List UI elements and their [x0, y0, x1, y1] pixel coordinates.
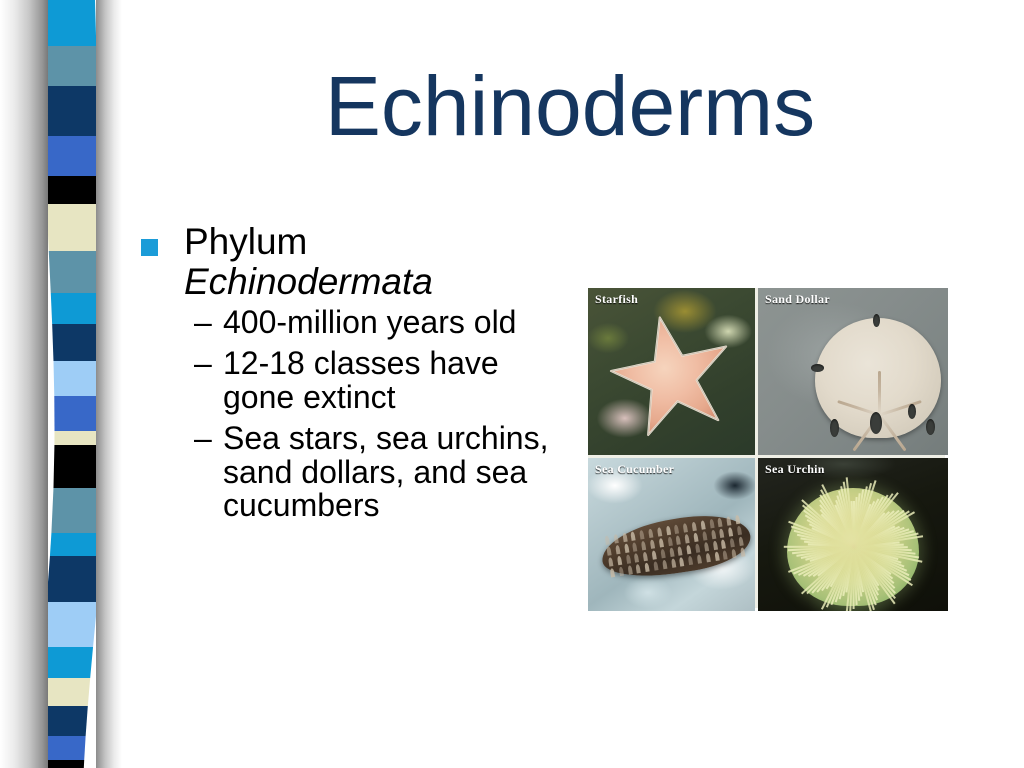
cucumber-spike	[692, 522, 697, 532]
cucumber-spike	[728, 527, 733, 537]
cucumber-spike	[631, 531, 636, 541]
en-dash-bullet-icon: –	[194, 347, 212, 381]
cucumber-spike	[721, 539, 726, 549]
cucumber-spike	[626, 555, 631, 565]
cucumber-spike	[688, 556, 693, 566]
cucumber-spike	[654, 561, 659, 571]
cucumber-spike	[720, 529, 725, 539]
cucumber-spike	[687, 545, 692, 555]
cucumber-spike	[645, 563, 650, 573]
cucumber-spike	[706, 553, 711, 563]
cucumber-spike	[624, 544, 629, 554]
sea-urchin-photo-caption: Sea Urchin	[765, 462, 825, 477]
sub-bullet-list: – 400-million years old – 12-18 classes …	[136, 306, 566, 523]
left-decorative-stripe	[0, 0, 120, 768]
bullet-level1-italic-text: Echinodermata	[184, 261, 433, 302]
slide-title: Echinoderms	[150, 62, 990, 150]
sub-bullet-text: 12-18 classes have gone extinct	[223, 345, 499, 415]
cucumber-spike	[643, 552, 648, 562]
cucumber-spike	[711, 530, 716, 540]
sea-urchin-illustration	[787, 488, 919, 606]
cucumber-spike	[605, 536, 610, 546]
cucumber-spike	[671, 559, 676, 569]
cucumber-spike	[641, 541, 646, 551]
list-item: – Sea stars, sea urchins, sand dollars, …	[194, 422, 566, 524]
cucumber-spike	[740, 548, 745, 558]
cucumber-spike	[648, 529, 653, 539]
cucumber-spike	[730, 538, 735, 548]
cucumber-spike	[619, 567, 624, 577]
cucumber-spike	[622, 533, 627, 543]
cucumber-spike	[713, 541, 718, 551]
list-item: – 12-18 classes have gone extinct	[194, 347, 566, 415]
cucumber-spike	[685, 534, 690, 544]
slide-body: Phylum Echinodermata – 400-million years…	[136, 222, 566, 530]
cucumber-spike	[610, 568, 615, 578]
sub-bullet-text: 400-million years old	[223, 304, 516, 340]
sea-cucumber-photo: Sea Cucumber	[588, 458, 755, 611]
cucumber-spike	[732, 549, 737, 559]
cucumber-spike	[701, 520, 706, 530]
cucumber-spike	[694, 533, 699, 543]
cucumber-spike	[627, 565, 632, 575]
starfish-photo-caption: Starfish	[595, 292, 638, 307]
cucumber-spike	[661, 549, 666, 559]
cucumber-spike	[727, 516, 732, 526]
cucumber-spike	[680, 557, 685, 567]
cucumber-spike	[615, 545, 620, 555]
en-dash-bullet-icon: –	[194, 306, 212, 340]
cucumber-spike	[667, 537, 672, 547]
cucumber-spike	[617, 556, 622, 566]
cucumber-spike	[723, 550, 728, 560]
cucumber-spike	[702, 531, 707, 541]
cucumber-spike	[676, 535, 681, 545]
cucumber-spike	[662, 560, 667, 570]
cucumber-spike	[659, 538, 664, 548]
cucumber-spike	[607, 546, 612, 556]
cucumber-spike	[614, 534, 619, 544]
cucumber-spike	[666, 526, 671, 536]
cucumber-spike	[633, 542, 638, 552]
square-bullet-icon	[141, 239, 158, 256]
sand-dollar-photo: Sand Dollar	[758, 288, 948, 455]
cucumber-spike	[709, 519, 714, 529]
bullet-level1-text: Phylum	[184, 221, 307, 262]
sand-dollar-photo-caption: Sand Dollar	[765, 292, 830, 307]
cucumber-spike	[737, 526, 742, 536]
starfish-illustration	[596, 299, 748, 451]
cucumber-spike	[704, 542, 709, 552]
cucumber-spike	[718, 518, 723, 528]
sub-bullet-text: Sea stars, sea urchins, sand dollars, an…	[223, 420, 548, 524]
echinoderm-picture-grid: Starfish Sand Dollar	[588, 288, 945, 608]
cucumber-spike	[678, 546, 683, 556]
cucumber-spike	[735, 515, 740, 525]
sea-urchin-photo: Sea Urchin	[758, 458, 948, 611]
list-item: – 400-million years old	[194, 306, 566, 340]
cucumber-spike	[634, 553, 639, 563]
slide-canvas: Echinoderms Phylum Echinodermata – 400-m…	[0, 0, 1024, 768]
cucumber-spike	[636, 564, 641, 574]
sea-cucumber-illustration	[598, 508, 755, 585]
starfish-photo: Starfish	[588, 288, 755, 455]
sea-cucumber-photo-caption: Sea Cucumber	[595, 462, 674, 477]
cucumber-spike	[674, 525, 679, 535]
sand-dollar-illustration	[815, 318, 941, 438]
cucumber-spike	[657, 527, 662, 537]
cucumber-spike	[697, 554, 702, 564]
stripe-right-shadow	[96, 0, 122, 768]
cucumber-spike	[650, 540, 655, 550]
cucumber-spike	[669, 548, 674, 558]
cucumber-spike	[608, 557, 613, 567]
cucumber-spike	[652, 550, 657, 560]
stripe-left-shadow	[0, 0, 48, 768]
cucumber-spike	[695, 544, 700, 554]
cucumber-spike	[739, 537, 744, 547]
cucumber-spike	[683, 523, 688, 533]
cucumber-spike	[714, 552, 719, 562]
en-dash-bullet-icon: –	[194, 422, 212, 456]
cucumber-spike	[640, 530, 645, 540]
bullet-level1: Phylum Echinodermata	[136, 222, 566, 302]
